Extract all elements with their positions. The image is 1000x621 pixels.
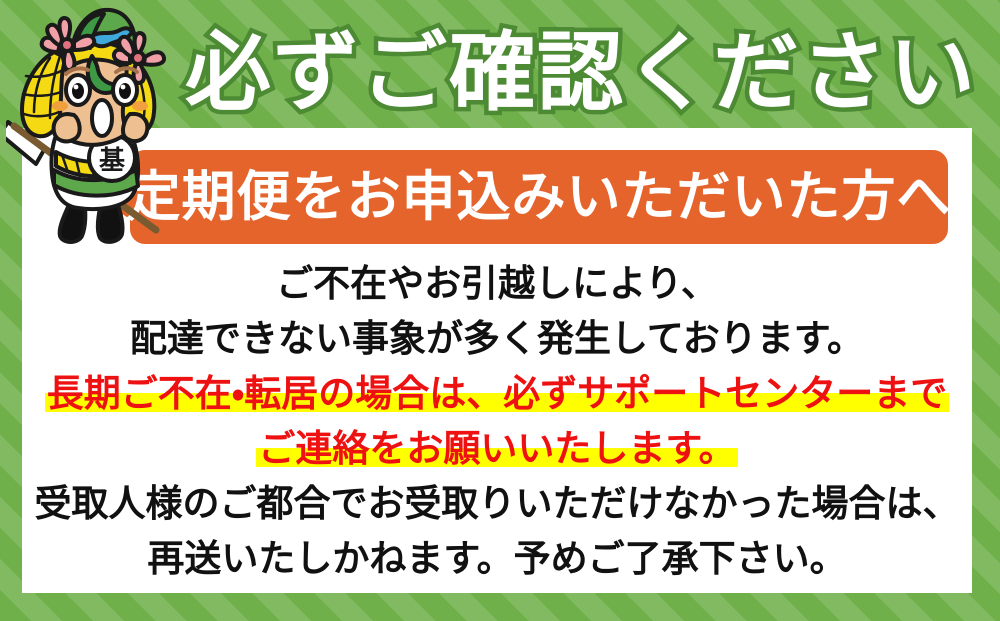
notice-line-text: 再送いたしかねます。予めご了承下さい。 bbox=[147, 540, 846, 577]
notice-line-text-highlighted: 長期ご不在・転居の場合は、必ずサポートセンターまで bbox=[45, 375, 950, 412]
notice-line-warning: ご連絡をお願いいたします。 bbox=[22, 421, 972, 476]
notice-line-text: ご不在やお引越しにより、 bbox=[276, 265, 718, 302]
notice-body: ご不在やお引越しにより、 配達できない事象が多く発生しております。 長期ご不在・… bbox=[22, 256, 972, 586]
speech-bubble-label: 定期便をお申込みいただいた方へ bbox=[127, 170, 952, 224]
notice-line: 受取人様のご都合でお受取りいただけなかった場合は、 bbox=[22, 476, 972, 531]
notice-line: 配達できない事象が多く発生しております。 bbox=[22, 311, 972, 366]
notice-line-warning: 長期ご不在・転居の場合は、必ずサポートセンターまで bbox=[22, 366, 972, 421]
notice-line: 再送いたしかねます。予めご了承下さい。 bbox=[22, 531, 972, 586]
page-title: 必ずご確認ください！ bbox=[185, 8, 1000, 120]
notice-line: ご不在やお引越しにより、 bbox=[22, 256, 972, 311]
speech-bubble: 定期便をお申込みいただいた方へ bbox=[130, 150, 948, 244]
notice-line-text-highlighted: ご連絡をお願いいたします。 bbox=[256, 430, 737, 467]
mascot-character-icon: 基 bbox=[6, 2, 182, 250]
mascot-badge-kanji: 基 bbox=[99, 146, 126, 176]
notice-line-text: 配達できない事象が多く発生しております。 bbox=[130, 320, 864, 357]
notice-banner: 必ずご確認ください！ 定期便をお申込みいただいた方へ ご不在やお引越しにより、 … bbox=[0, 0, 1000, 621]
notice-line-text: 受取人様のご都合でお受取りいただけなかった場合は、 bbox=[35, 485, 960, 522]
